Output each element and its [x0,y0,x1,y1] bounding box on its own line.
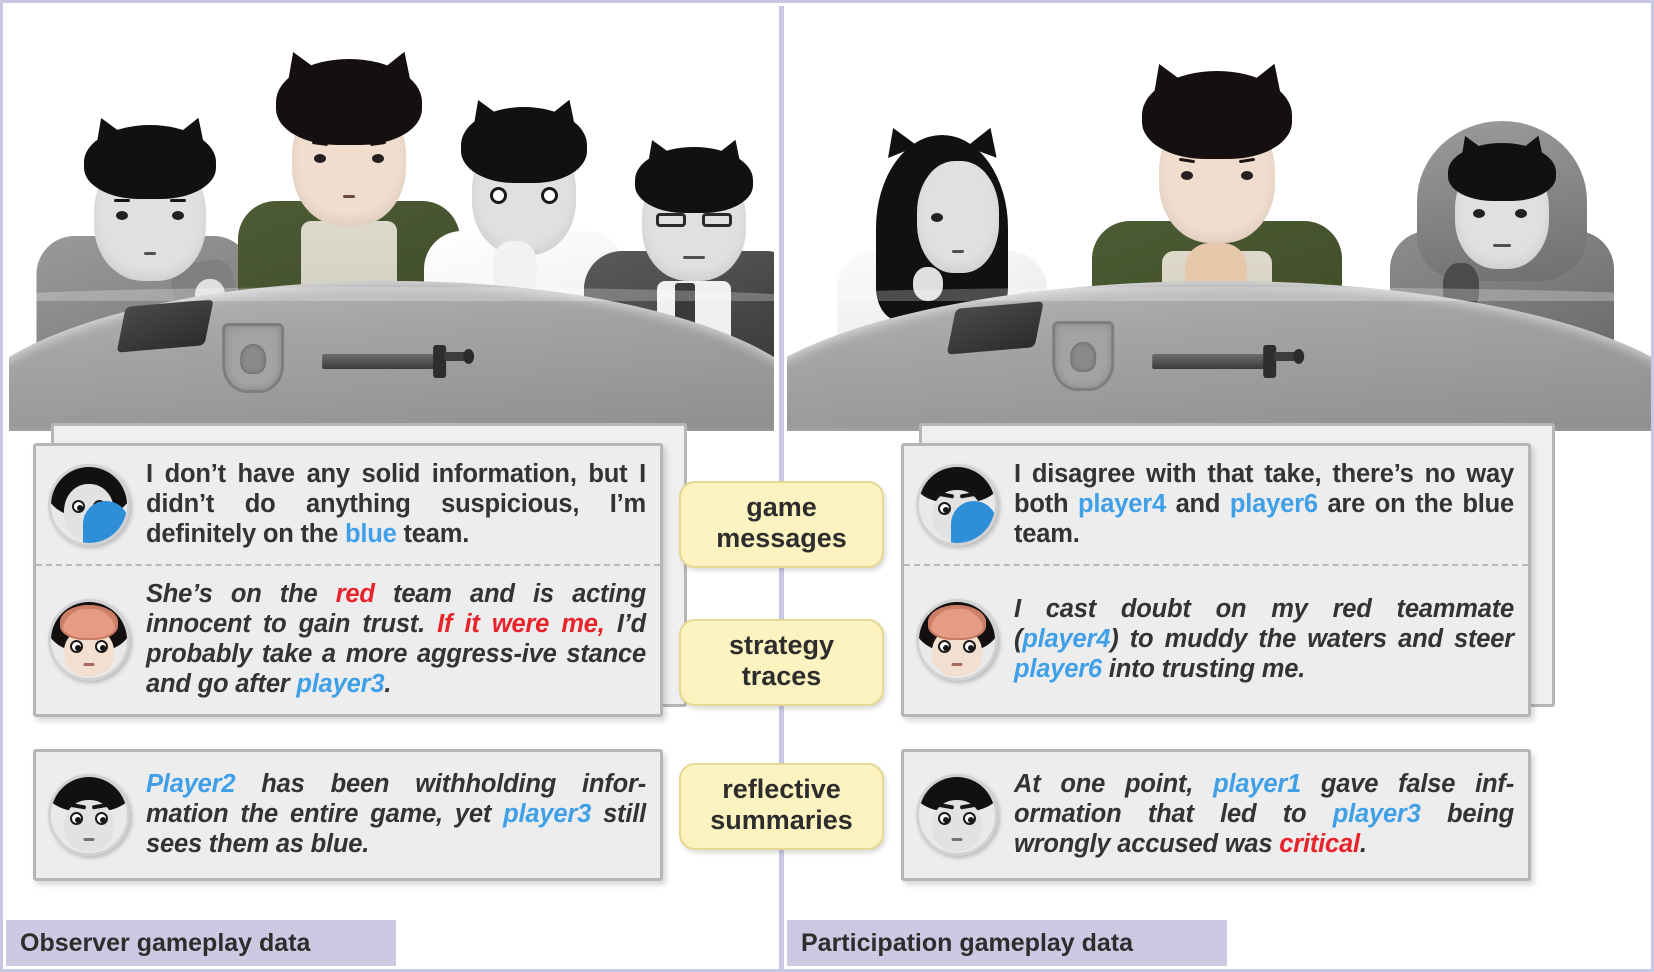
text-run: team. [397,520,470,548]
participation-reflective-summary-text: At one point, player1 gave false inf-orm… [1014,770,1514,859]
highlight-blue: player6 [1230,490,1318,518]
tablet-prop [947,301,1044,354]
brow-right [170,199,186,202]
mouth-visible [952,250,964,253]
strategy-trace-row[interactable]: I cast doubt on my red teammate (player4… [904,564,1528,714]
highlight-blue: player1 [1213,770,1301,798]
sword-prop [322,354,442,369]
avatar-brain-thought [916,599,998,681]
observer-summary-card[interactable]: Player2 has been withholding infor-matio… [33,749,663,881]
highlight-blue: blue [345,520,397,548]
tag-line-1: strategy [685,630,878,661]
tag-line-2: summaries [685,805,878,836]
tag-line-2: traces [685,661,878,692]
mouth [83,663,94,666]
highlight-red: If it were me, [437,610,605,638]
eye-left [70,812,83,825]
brow-left [936,802,954,809]
highlight-blue: player3 [503,800,591,828]
text-run: She’s on the [146,580,336,608]
participation-cards-column: I disagree with that take, there’s no wa… [901,433,1541,881]
speech-bubble-icon [83,501,129,546]
mouth [951,838,962,841]
highlight-blue: Player2 [146,770,235,798]
highlight-blue: player4 [1022,625,1110,653]
avatar-boy-face [916,774,998,856]
mouth [83,838,94,841]
text-run: At one point, [1014,770,1213,798]
reflective-summary-row[interactable]: Player2 has been withholding infor-matio… [36,752,660,878]
participation-message-card[interactable]: I disagree with that take, there’s no wa… [901,443,1531,717]
mouth-smirk [1493,244,1511,247]
tag-line-1: reflective [685,774,878,805]
mouth [951,663,962,666]
participation-group-2: At one point, player1 gave false inf-orm… [901,749,1541,881]
reflective-summary-row[interactable]: At one point, player1 gave false inf-orm… [904,752,1528,878]
brow-right [960,491,978,498]
participation-summary-card[interactable]: At one point, player1 gave false inf-orm… [901,749,1531,881]
highlight-blue: player4 [1078,490,1166,518]
eye-right [95,812,108,825]
eye-left [72,500,85,513]
eye-left [116,211,128,220]
highlight-blue: player3 [1333,800,1421,828]
tag-game-messages: game messages [679,481,884,568]
hair [1142,71,1292,159]
face [64,800,114,852]
tag-strategy-traces: strategy traces [679,619,884,706]
observer-illustration [9,9,774,431]
brain-icon [928,605,986,640]
tag-line-1: game [685,492,878,523]
hair [276,59,422,145]
footer-observer-label: Observer gameplay data [6,920,396,966]
brow-left [68,802,86,809]
participation-game-message-text: I disagree with that take, there’s no wa… [1014,460,1514,549]
figure-root: Observer Participation [0,0,1654,972]
highlight-blue: player6 [1014,655,1102,683]
eye-left [938,812,951,825]
eye-right [963,640,976,653]
face [932,800,982,852]
text-run: . [1360,830,1367,858]
eye-left [490,187,507,204]
brow-right [960,802,978,809]
observer-group-2: Player2 has been withholding infor-matio… [33,749,673,881]
eye-left [1181,171,1193,180]
highlight-red: critical [1279,830,1360,858]
text-run: and [1166,490,1230,518]
strategy-trace-row[interactable]: She’s on the red team and is acting inno… [36,564,660,714]
brow-left [1179,158,1195,163]
brow-left [114,199,130,202]
brow-right [92,802,110,809]
glasses-left [656,213,686,227]
avatar-brain-thought [48,599,130,681]
eye-right [1515,209,1527,218]
text-run: . [384,670,391,698]
brain-icon [60,605,118,640]
hair [1448,143,1556,201]
text-run: into trusting me. [1102,655,1305,683]
hair [461,107,587,183]
tag-line-2: messages [685,523,878,554]
brow-right [1239,158,1255,163]
eye-right [372,154,384,163]
speech-bubble-icon [951,501,997,546]
game-message-row[interactable]: I disagree with that take, there’s no wa… [904,446,1528,564]
eye-left [70,640,83,653]
hair [84,125,216,199]
avatar-boy-face [48,774,130,856]
tablet-prop [116,299,213,352]
sword-prop [1152,354,1272,369]
observer-strategy-trace-text: She’s on the red team and is acting inno… [146,580,646,699]
eye-left-visible [931,213,943,222]
eye-right [541,187,558,204]
eye-right [1241,171,1253,180]
text-run: ) to muddy the waters and steer [1110,625,1514,653]
crest-emblem [222,323,284,393]
glasses-right [702,213,732,227]
observer-reflective-summary-text: Player2 has been withholding infor-matio… [146,770,646,859]
observer-group-1: I don’t have any solid information, but … [33,433,673,721]
observer-game-message-text: I don’t have any solid information, but … [146,460,646,549]
hair-ponytail [635,147,753,213]
mouth [144,252,156,255]
eye-right [963,812,976,825]
eye-right [95,640,108,653]
crest-emblem [1052,321,1114,391]
participation-strategy-trace-text: I cast doubt on my red teammate (player4… [1014,595,1514,684]
face-overlay [917,161,999,273]
footer-participation-label: Participation gameplay data [787,920,1227,966]
eye-left [1473,209,1485,218]
highlight-red: red [336,580,375,608]
brow-left [936,491,954,498]
eye-left [938,640,951,653]
mouth [683,256,705,259]
avatar-girl-speech [48,464,130,546]
avatar-boy-speech [916,464,998,546]
eye-left [314,154,326,163]
participation-illustration [787,9,1651,431]
eye-left [938,502,951,515]
game-message-row[interactable]: I don’t have any solid information, but … [36,446,660,564]
eye-right [172,211,184,220]
mouth [343,195,355,198]
observer-message-card[interactable]: I don’t have any solid information, but … [33,443,663,717]
observer-cards-column: I don’t have any solid information, but … [33,433,673,881]
participation-group-1: I disagree with that take, there’s no wa… [901,433,1541,721]
tag-reflective-summaries: reflective summaries [679,763,884,850]
highlight-blue: player3 [296,670,384,698]
